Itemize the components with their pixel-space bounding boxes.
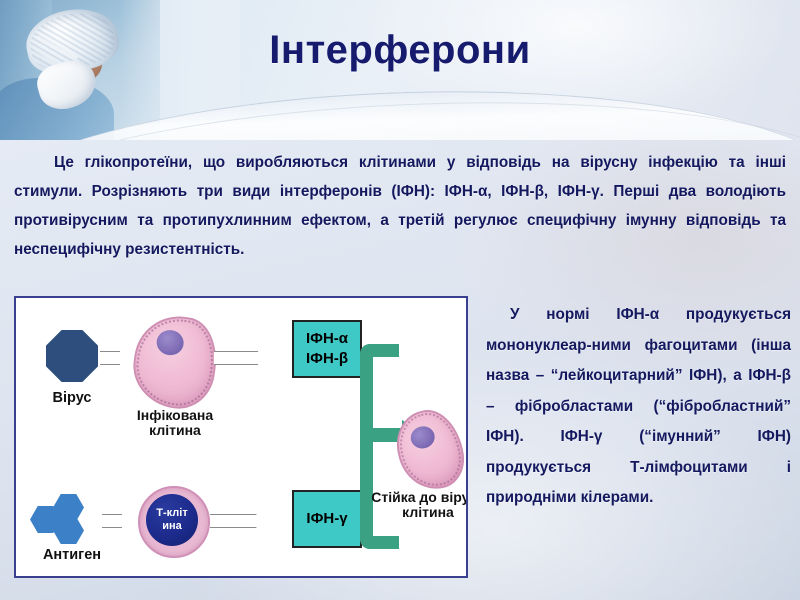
ifn-beta-label: ІФН-β bbox=[306, 349, 348, 369]
interferon-diagram: Вірус Інфікована клітина ІФН-α ІФН-β Ант… bbox=[14, 296, 468, 578]
right-column-paragraph: У нормі ІФН-α продукується мононуклеар-н… bbox=[486, 300, 791, 514]
t-cell-label: Т-кліт ина bbox=[146, 494, 198, 546]
page-title: Інтерферони bbox=[0, 28, 800, 73]
t-cell-icon: Т-кліт ина bbox=[138, 486, 210, 558]
ifn-gamma-label: ІФН-γ bbox=[306, 509, 347, 529]
arrow-cell-to-ifn-ab-icon bbox=[214, 344, 290, 370]
intro-paragraph: Це глікопротеїни, що виробляються клітин… bbox=[14, 148, 786, 264]
arrow-antigen-to-tcell-icon bbox=[102, 507, 136, 533]
virus-icon bbox=[46, 330, 98, 382]
resistant-cell-label: Стійка до вiруса клiтина bbox=[368, 490, 468, 520]
ifn-alpha-label: ІФН-α bbox=[306, 329, 348, 349]
resistant-cell-nucleus-icon bbox=[408, 424, 437, 451]
infected-cell-label: Інфікована клітина bbox=[120, 408, 230, 438]
infected-cell-nucleus-icon bbox=[155, 328, 185, 357]
infected-cell-icon bbox=[128, 311, 222, 414]
virus-label: Вірус bbox=[32, 391, 112, 406]
antigen-icon bbox=[30, 494, 102, 544]
header-banner: Інтерферони bbox=[0, 0, 800, 140]
antigen-label: Антиген bbox=[24, 548, 120, 563]
arrow-virus-to-cell-icon bbox=[100, 344, 134, 370]
arrow-tcell-to-ifn-g-icon bbox=[210, 507, 290, 533]
